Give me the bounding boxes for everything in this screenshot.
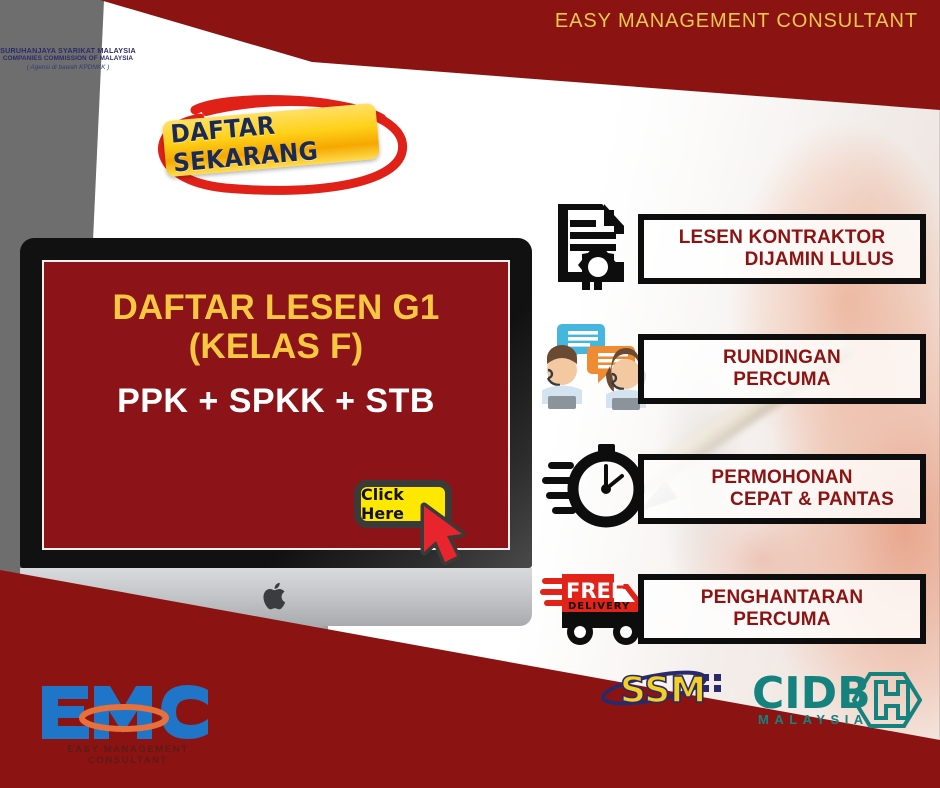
apple-logo-icon bbox=[263, 580, 289, 612]
truck-free-text: FREE bbox=[566, 579, 625, 603]
feature-line1: PERMOHONAN bbox=[711, 467, 852, 489]
feature-text-box: PERMOHONAN CEPAT & PANTAS bbox=[638, 454, 926, 524]
monitor-screen: DAFTAR LESEN G1 (KELAS F) PPK + SPKK + S… bbox=[42, 260, 510, 550]
fast-stopwatch-icon bbox=[540, 436, 652, 534]
ssm-logo-line2: COMPANIES COMMISSION OF MALAYSIA bbox=[0, 55, 136, 62]
free-delivery-truck-icon: FREE DELIVERY bbox=[540, 556, 652, 654]
feature-line1: PENGHANTARAN bbox=[701, 587, 864, 609]
screen-services-line: PPK + SPKK + STB bbox=[117, 382, 435, 421]
feature-row-penghantaran: FREE DELIVERY PENGHANTARAN PERCUMA bbox=[540, 556, 926, 654]
feature-line1: RUNDINGAN bbox=[723, 347, 841, 369]
feature-row-rundingan: RUNDINGAN PERCUMA bbox=[540, 316, 926, 414]
ssm-logo-line1: SURUHANJAYA SYARIKAT MALAYSIA bbox=[0, 46, 136, 55]
feature-text-box: LESEN KONTRAKTOR DIJAMIN LULUS bbox=[638, 214, 926, 284]
ssm-logo-line3: ( Agensi di bawah KPDNKK ) bbox=[0, 64, 136, 71]
feature-text-box: PENGHANTARAN PERCUMA bbox=[638, 574, 926, 644]
screen-title: DAFTAR LESEN G1 (KELAS F) bbox=[112, 288, 439, 366]
feature-line2: PERCUMA bbox=[733, 369, 830, 391]
feature-row-lesen-kontraktor: LESEN KONTRAKTOR DIJAMIN LULUS bbox=[540, 196, 926, 294]
mouse-cursor-arrow-icon bbox=[416, 502, 470, 568]
feature-line2: PERCUMA bbox=[733, 609, 830, 631]
monitor-bezel: DAFTAR LESEN G1 (KELAS F) PPK + SPKK + S… bbox=[20, 238, 532, 568]
feature-text-box: RUNDINGAN PERCUMA bbox=[638, 334, 926, 404]
ssm-logo: SSM bbox=[596, 664, 732, 746]
feature-list: LESEN KONTRAKTOR DIJAMIN LULUS bbox=[540, 196, 926, 676]
certificate-document-icon bbox=[540, 196, 652, 294]
company-name-header: EASY MANAGEMENT CONSULTANT bbox=[555, 10, 918, 33]
truck-delivery-text: DELIVERY bbox=[568, 601, 630, 612]
feature-line2: DIJAMIN LULUS bbox=[745, 249, 894, 271]
screen-title-line1: DAFTAR LESEN G1 bbox=[112, 288, 439, 327]
emc-logo-caption: EASY MANAGEMENT CONSULTANT bbox=[40, 744, 216, 766]
feature-line2: CEPAT & PANTAS bbox=[730, 489, 894, 511]
promotional-poster: EASY MANAGEMENT CONSULTANT DAFTAR SEKARA… bbox=[0, 0, 940, 788]
feature-row-permohonan: PERMOHONAN CEPAT & PANTAS bbox=[540, 436, 926, 534]
feature-line1: LESEN KONTRAKTOR bbox=[679, 227, 886, 249]
screen-title-line2: (KELAS F) bbox=[112, 327, 439, 366]
cidb-logo-sub: MALAYSIA bbox=[758, 712, 869, 727]
register-now-badge[interactable]: DAFTAR SEKARANG bbox=[140, 88, 420, 196]
ssm-logo-mark: SSM bbox=[620, 670, 706, 711]
customer-support-agents-icon bbox=[540, 316, 652, 414]
